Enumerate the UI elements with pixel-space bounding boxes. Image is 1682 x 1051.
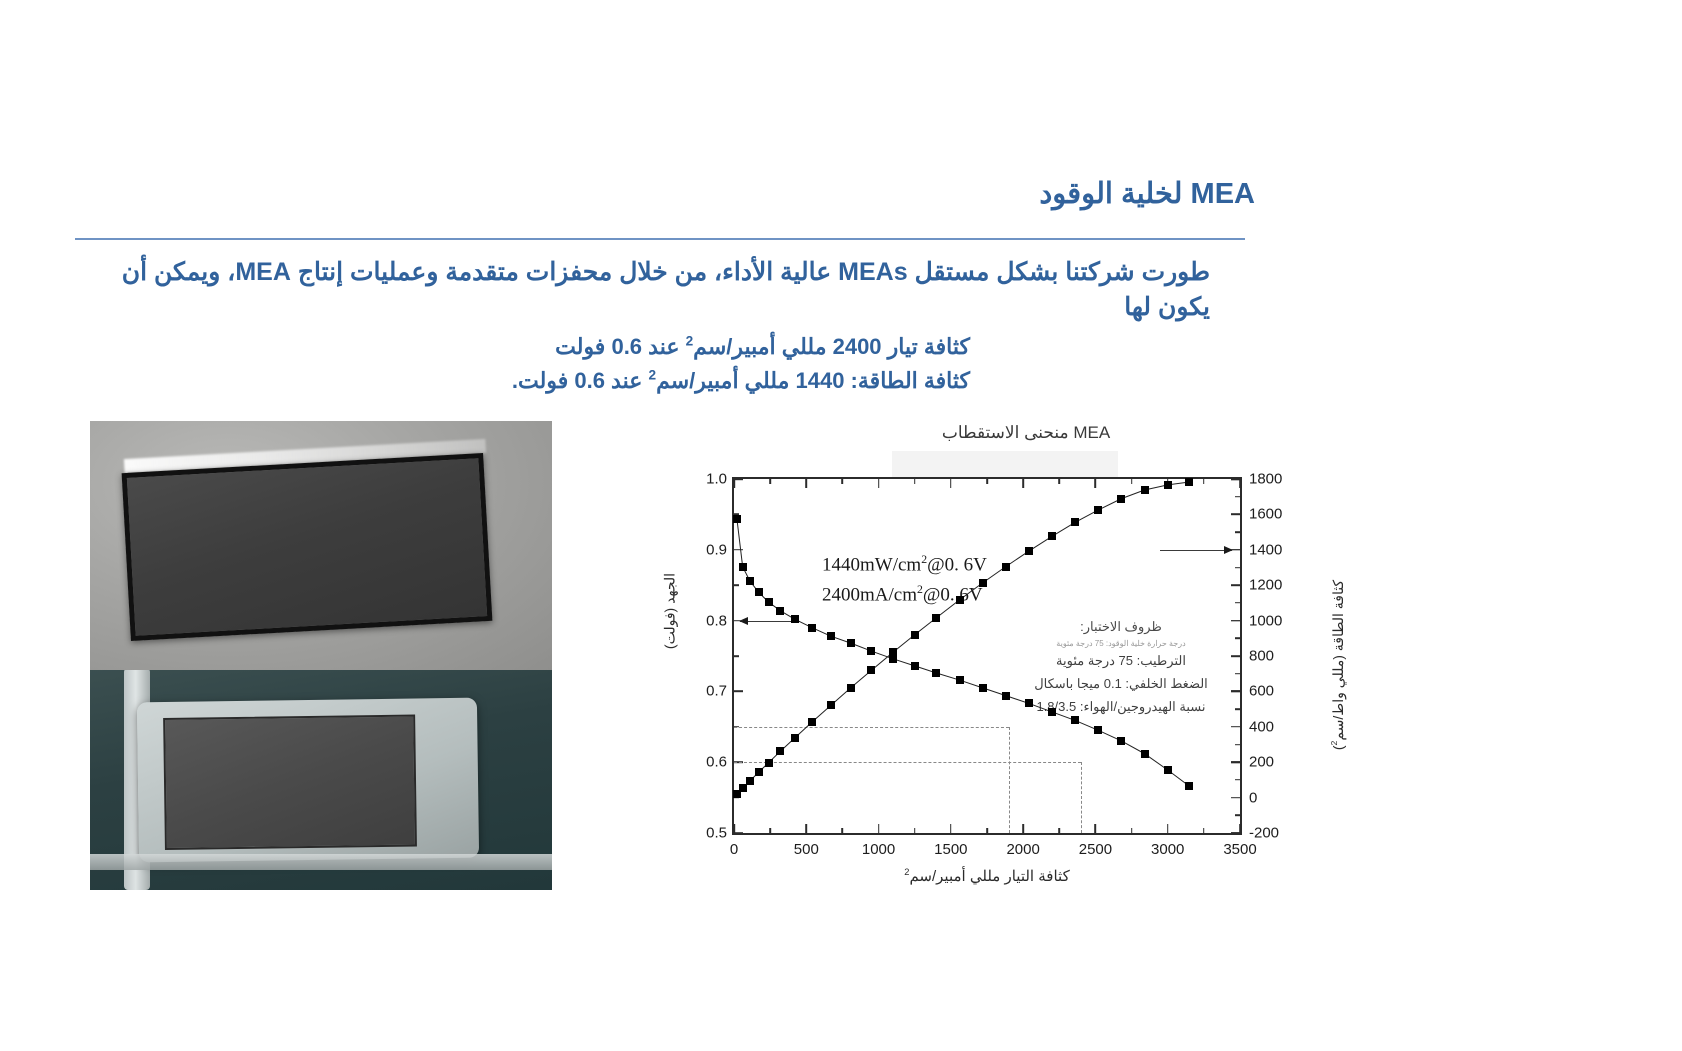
y-axis-right-tick-label: 1200 xyxy=(1249,577,1282,594)
data-point-marker xyxy=(1141,486,1149,494)
test-conditions-box: ظروف الاختبار: درجة حرارة خلية الوقود: 7… xyxy=(1026,619,1216,722)
y-axis-right-tick xyxy=(1231,549,1240,551)
data-point-marker xyxy=(1117,737,1125,745)
y-axis-right-label-tail: ) xyxy=(1330,745,1346,750)
data-point-marker xyxy=(1164,766,1172,774)
data-point-marker xyxy=(932,614,940,622)
data-point-marker xyxy=(911,631,919,639)
x-axis-tick-label: 3500 xyxy=(1223,841,1256,858)
y-axis-right-minor-tick xyxy=(1235,638,1240,640)
bullet-prefix: كثافة تيار 2400 مللي أمبير/سم xyxy=(693,334,970,359)
bullet-prefix: كثافة الطاقة: 1440 مللي أمبير/سم xyxy=(656,368,970,393)
page-title: MEA لخلية الوقود xyxy=(75,176,1255,211)
x-axis-tick-label: 3000 xyxy=(1151,841,1184,858)
y-axis-right-tick xyxy=(1231,655,1240,657)
y-axis-right-tick-label: 800 xyxy=(1249,648,1274,665)
x-axis-minor-tick xyxy=(1203,828,1205,833)
x-axis-tick xyxy=(805,824,807,833)
data-point-marker xyxy=(776,607,784,615)
y-axis-left-tick xyxy=(734,691,743,693)
data-point-marker xyxy=(1002,563,1010,571)
data-point-marker xyxy=(1071,716,1079,724)
x-axis-tick xyxy=(1022,824,1024,833)
x-axis-tick xyxy=(1167,824,1169,833)
y-axis-left-tick xyxy=(734,478,743,480)
x-axis-top-tick xyxy=(950,479,952,488)
y-axis-right-tick-label: 1800 xyxy=(1249,471,1282,488)
data-point-marker xyxy=(1094,726,1102,734)
x-axis-top-tick xyxy=(1095,479,1097,488)
data-point-marker xyxy=(1048,532,1056,540)
y-axis-right-tick-label: 1000 xyxy=(1249,612,1282,629)
x-axis-top-minor-tick xyxy=(1131,479,1133,484)
right-axis-arrow-icon xyxy=(1160,550,1232,551)
x-axis-minor-tick xyxy=(914,828,916,833)
data-point-marker xyxy=(746,577,754,585)
y-axis-left-label: الجهد (فولت) xyxy=(662,573,679,649)
body-lead-text: طورت شركتنا بشكل مستقل MEAs عالية الأداء… xyxy=(75,255,1210,324)
data-point-marker xyxy=(932,669,940,677)
annotation-power-value: 1440 xyxy=(822,554,860,575)
y-axis-right-minor-tick xyxy=(1235,815,1240,817)
x-axis-minor-tick xyxy=(769,828,771,833)
data-point-marker xyxy=(1094,506,1102,514)
y-axis-right-tick-label: -200 xyxy=(1249,825,1279,842)
slide-body: طورت شركتنا بشكل مستقل MEAs عالية الأداء… xyxy=(75,255,1210,398)
y-axis-right-tick xyxy=(1231,584,1240,586)
y-axis-right-tick-label: 600 xyxy=(1249,683,1274,700)
y-axis-left-minor-tick xyxy=(734,584,739,586)
y-axis-right-label: كثافة الطاقة (مللي واط/سم2) xyxy=(1329,580,1347,750)
x-axis-top-tick xyxy=(805,479,807,488)
slide-root: MEA لخلية الوقود طورت شركتنا بشكل مستقل … xyxy=(0,0,1682,1051)
x-axis-top-minor-tick xyxy=(842,479,844,484)
mea-frame xyxy=(137,698,479,863)
data-point-marker xyxy=(827,632,835,640)
data-point-marker xyxy=(1025,547,1033,555)
x-axis-top-tick xyxy=(1239,479,1241,488)
x-axis-tick-label: 2500 xyxy=(1079,841,1112,858)
bullet-suffix: عند 0.6 فولت. xyxy=(512,368,649,393)
x-axis-tick-label: 1500 xyxy=(934,841,967,858)
x-axis-minor-tick xyxy=(1058,828,1060,833)
y-axis-right-tick xyxy=(1231,691,1240,693)
y-axis-left-tick-label: 1.0 xyxy=(706,471,727,488)
list-item: كثافة تيار 2400 مللي أمبير/سم2 عند 0.6 ف… xyxy=(75,330,1210,364)
data-point-marker xyxy=(1185,782,1193,790)
x-axis-top-minor-tick xyxy=(986,479,988,484)
mea-photo-column xyxy=(90,421,552,890)
conditions-line: الترطيب: 75 درجة مئوية xyxy=(1026,653,1216,669)
x-axis-label-text: كثافة التيار مللي أمبير/سم xyxy=(909,868,1069,885)
y-axis-right-minor-tick xyxy=(1235,496,1240,498)
data-point-marker xyxy=(847,684,855,692)
guide-line-horizontal xyxy=(734,762,1081,763)
annotation-power-unit: mW/cm xyxy=(860,554,921,575)
guide-line-vertical xyxy=(1081,762,1082,833)
y-axis-left-tick xyxy=(734,549,743,551)
data-point-marker xyxy=(791,734,799,742)
polarization-chart: MEA منحنى الاستقطاب الجهد (فولت) كثافة ا… xyxy=(676,415,1376,915)
y-axis-right-tick-label: 200 xyxy=(1249,754,1274,771)
y-axis-right-tick-label: 1400 xyxy=(1249,541,1282,558)
y-axis-left-tick-label: 0.7 xyxy=(706,683,727,700)
y-axis-right-tick xyxy=(1231,620,1240,622)
data-point-marker xyxy=(847,639,855,647)
data-point-marker xyxy=(746,777,754,785)
data-point-marker xyxy=(765,759,773,767)
y-axis-right-minor-tick xyxy=(1235,779,1240,781)
y-axis-right-minor-tick xyxy=(1235,744,1240,746)
mea-membrane-sheet xyxy=(122,453,493,641)
data-point-marker xyxy=(1141,750,1149,758)
list-item: كثافة الطاقة: 1440 مللي أمبير/سم2 عند 0.… xyxy=(75,364,1210,398)
y-axis-right-label-sup: 2 xyxy=(1329,741,1339,746)
y-axis-right-tick-label: 1600 xyxy=(1249,506,1282,523)
y-axis-right-label-text: كثافة الطاقة (مللي واط/سم xyxy=(1330,580,1346,741)
data-point-marker xyxy=(1164,481,1172,489)
data-point-marker xyxy=(956,676,964,684)
mea-photo-bottom xyxy=(90,670,552,890)
data-point-marker xyxy=(1117,495,1125,503)
data-point-marker xyxy=(808,718,816,726)
y-axis-left-tick-label: 0.6 xyxy=(706,754,727,771)
x-axis-tick-label: 1000 xyxy=(862,841,895,858)
y-axis-right-tick xyxy=(1231,797,1240,799)
x-axis-top-minor-tick xyxy=(914,479,916,484)
data-point-marker xyxy=(1185,478,1193,486)
data-point-marker xyxy=(956,596,964,604)
x-axis-tick xyxy=(733,824,735,833)
guide-line-vertical xyxy=(1009,727,1010,833)
x-axis-label: كثافة التيار مللي أمبير/سم2 xyxy=(732,867,1242,885)
conditions-heading: ظروف الاختبار: xyxy=(1026,619,1216,635)
conditions-faint-line: درجة حرارة خلية الوقود: 75 درجة مئوية xyxy=(1026,639,1216,648)
photo-table-edge xyxy=(90,854,552,870)
x-axis-minor-tick xyxy=(842,828,844,833)
data-point-marker xyxy=(1071,518,1079,526)
annotation-current-value: 2400 xyxy=(822,584,860,605)
annotation-current-unit: mA/cm xyxy=(860,584,917,605)
x-axis-tick-label: 500 xyxy=(794,841,819,858)
y-axis-right-tick-label: 0 xyxy=(1249,789,1257,806)
x-axis-tick xyxy=(950,824,952,833)
y-axis-right-minor-tick xyxy=(1235,531,1240,533)
x-axis-minor-tick xyxy=(1131,828,1133,833)
x-axis-top-tick xyxy=(878,479,880,488)
x-axis-tick xyxy=(1239,824,1241,833)
data-point-marker xyxy=(1048,708,1056,716)
y-axis-right-tick xyxy=(1231,726,1240,728)
x-axis-top-minor-tick xyxy=(769,479,771,484)
data-point-marker xyxy=(827,701,835,709)
y-axis-right-tick xyxy=(1231,761,1240,763)
mea-membrane-sheet xyxy=(163,714,417,850)
guide-line-horizontal xyxy=(734,727,1009,728)
bullet-suffix: عند 0.6 فولت xyxy=(555,334,685,359)
y-axis-left-tick-label: 0.5 xyxy=(706,825,727,842)
data-point-marker xyxy=(1025,699,1033,707)
y-axis-left-tick-label: 0.8 xyxy=(706,612,727,629)
data-point-marker xyxy=(979,579,987,587)
annotation-power-at: @0. 6V xyxy=(927,554,987,575)
x-axis-top-minor-tick xyxy=(1203,479,1205,484)
annotation-current-at: @0. 6V xyxy=(923,584,983,605)
title-divider xyxy=(75,238,1245,240)
x-axis-tick-label: 0 xyxy=(730,841,738,858)
x-axis-top-tick xyxy=(1022,479,1024,488)
y-axis-left-minor-tick xyxy=(734,655,739,657)
data-point-marker xyxy=(765,598,773,606)
y-axis-right-minor-tick xyxy=(1235,567,1240,569)
data-point-marker xyxy=(733,515,741,523)
mea-photo-top xyxy=(90,421,552,670)
x-axis-top-minor-tick xyxy=(1058,479,1060,484)
data-point-marker xyxy=(867,647,875,655)
y-axis-right-minor-tick xyxy=(1235,708,1240,710)
conditions-line: الضغط الخلفي: 0.1 ميجا باسكال xyxy=(1026,676,1216,692)
y-axis-right-tick xyxy=(1231,514,1240,516)
x-axis-tick xyxy=(1095,824,1097,833)
x-axis-top-tick xyxy=(733,479,735,488)
annotation-power: 1440mW/cm2@0. 6V xyxy=(822,553,987,576)
data-point-marker xyxy=(889,648,897,656)
chart-title: MEA منحنى الاستقطاب xyxy=(676,423,1376,443)
body-bullet-list: كثافة تيار 2400 مللي أمبير/سم2 عند 0.6 ف… xyxy=(75,330,1210,398)
data-point-marker xyxy=(739,784,747,792)
x-axis-minor-tick xyxy=(986,828,988,833)
data-point-marker xyxy=(791,615,799,623)
y-axis-left-tick-label: 0.9 xyxy=(706,541,727,558)
y-axis-right-tick-label: 400 xyxy=(1249,718,1274,735)
x-axis-tick-label: 2000 xyxy=(1006,841,1039,858)
y-axis-right-minor-tick xyxy=(1235,602,1240,604)
data-point-marker xyxy=(1002,692,1010,700)
plot-area: 1440mW/cm2@0. 6V 2400mA/cm2@0. 6V ظروف ا… xyxy=(732,477,1242,835)
y-axis-left-tick xyxy=(734,620,743,622)
data-point-marker xyxy=(867,666,875,674)
data-point-marker xyxy=(979,684,987,692)
x-axis-tick xyxy=(878,824,880,833)
data-point-marker xyxy=(776,747,784,755)
data-point-marker xyxy=(808,624,816,632)
data-point-marker xyxy=(755,768,763,776)
y-axis-left-tick xyxy=(734,832,743,834)
data-point-marker xyxy=(911,662,919,670)
y-axis-right-minor-tick xyxy=(1235,673,1240,675)
data-point-marker xyxy=(755,588,763,596)
data-point-marker xyxy=(739,563,747,571)
bullet-superscript: 2 xyxy=(648,368,656,383)
